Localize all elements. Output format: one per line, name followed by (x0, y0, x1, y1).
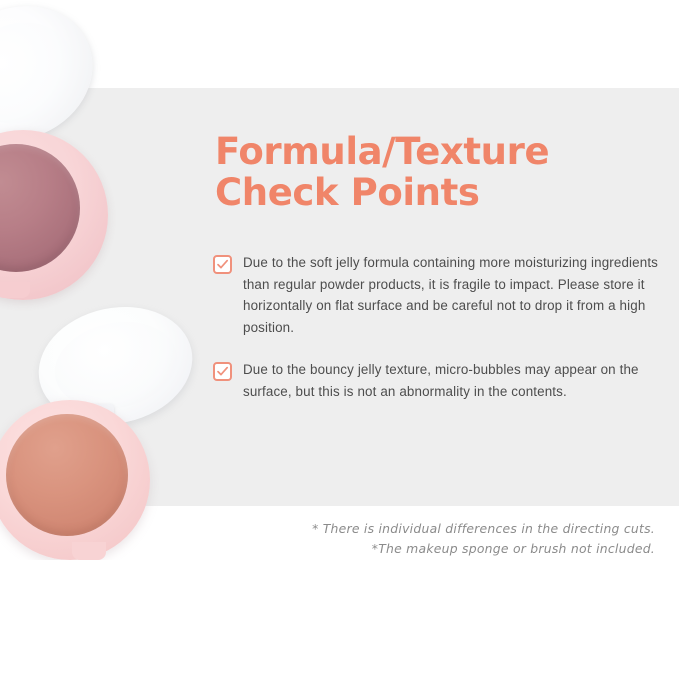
checklist-item-text: Due to the bouncy jelly texture, micro-b… (243, 359, 661, 402)
footnotes: * There is individual differences in the… (193, 519, 655, 559)
page-title-line-2: Check Points (215, 171, 479, 214)
checklist-item-text: Due to the soft jelly formula containing… (243, 252, 661, 339)
checkbox-checked-icon (213, 362, 232, 381)
page-title-line-1: Formula/Texture (215, 130, 549, 173)
footnote-text: *The makeup sponge or brush not included… (193, 539, 655, 559)
checkbox-checked-icon (213, 255, 232, 274)
content-column: Formula/TextureCheck Points Due to the s… (213, 0, 663, 679)
checklist: Due to the soft jelly formula containing… (213, 252, 661, 402)
footnote-text: * There is individual differences in the… (193, 519, 655, 539)
page-title: Formula/TextureCheck Points (215, 131, 655, 214)
list-item: Due to the soft jelly formula containing… (213, 252, 661, 339)
list-item: Due to the bouncy jelly texture, micro-b… (213, 359, 661, 402)
product-detail-page: Formula/TextureCheck Points Due to the s… (0, 0, 679, 679)
